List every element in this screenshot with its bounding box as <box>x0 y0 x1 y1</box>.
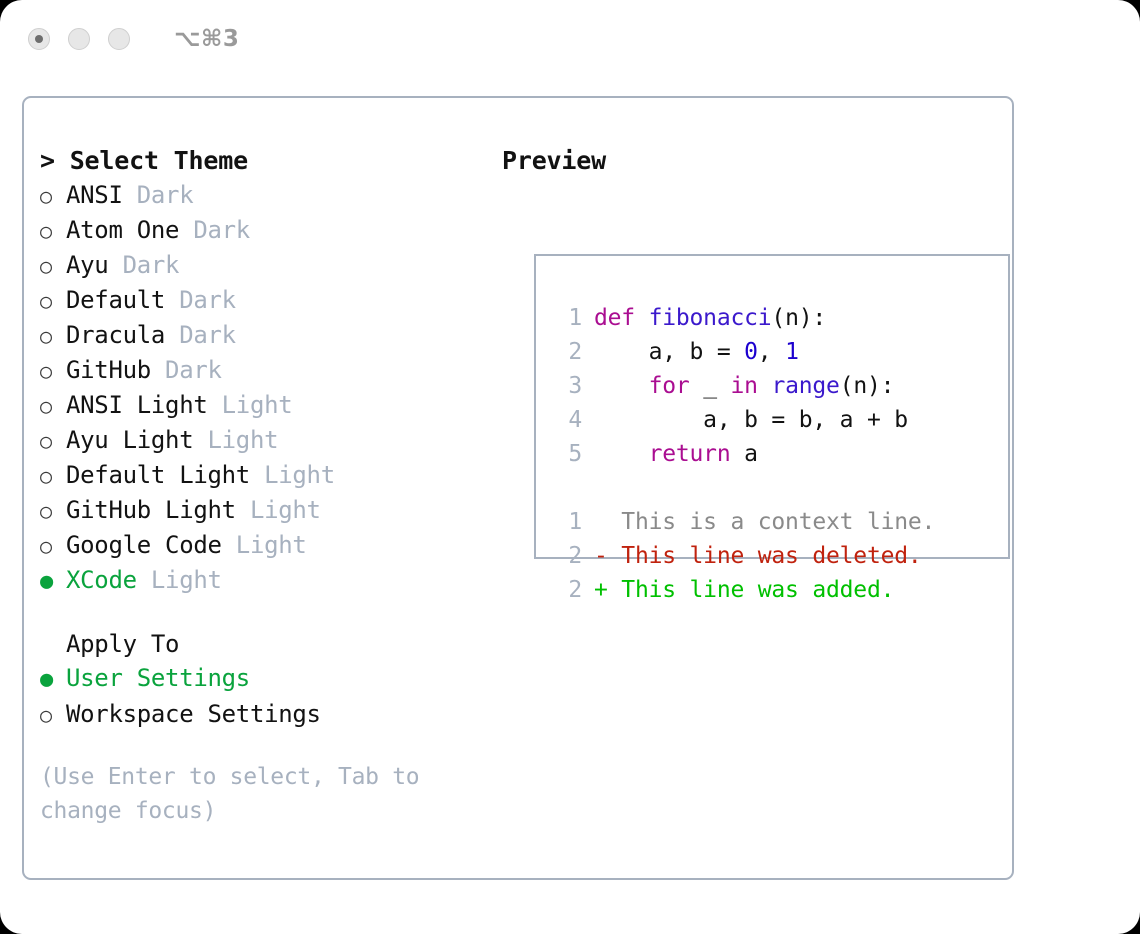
radio-unselected-icon: ○ <box>40 214 66 248</box>
radio-unselected-icon: ○ <box>40 179 66 213</box>
keyboard-shortcut-label: ⌥⌘3 <box>174 26 239 52</box>
spacer-2 <box>40 732 480 760</box>
code-preview: 1def fibonacci(n):2 a, b = 0, 13 for _ i… <box>556 301 935 607</box>
theme-option-ansi-light[interactable]: ○ANSI Light Light <box>40 388 480 423</box>
diff-line: 1 This is a context line. <box>556 505 935 539</box>
diff-text-add: + This line was added. <box>594 573 894 607</box>
theme-mode-label: Light <box>236 493 321 527</box>
code-text: return a <box>594 437 758 471</box>
theme-option-dracula[interactable]: ○Dracula Dark <box>40 318 480 353</box>
theme-name: Atom One <box>66 213 179 247</box>
radio-unselected-icon: ○ <box>40 354 66 388</box>
theme-name: Ayu <box>66 248 108 282</box>
theme-name: Default Light <box>66 458 250 492</box>
line-number: 5 <box>556 437 582 471</box>
preview-heading: Preview <box>502 144 1002 178</box>
radio-unselected-icon: ○ <box>40 698 66 732</box>
code-text: a, b = b, a + b <box>594 403 908 437</box>
theme-option-github[interactable]: ○GitHub Dark <box>40 353 480 388</box>
code-token-kw: for <box>649 373 690 399</box>
code-text: a, b = 0, 1 <box>594 335 799 369</box>
title-bar: ⌥⌘3 <box>0 0 1140 78</box>
radio-unselected-icon: ○ <box>40 284 66 318</box>
theme-name: XCode <box>66 563 137 597</box>
preview-box: 1def fibonacci(n):2 a, b = 0, 13 for _ i… <box>534 254 1010 559</box>
line-number: 2 <box>556 539 582 573</box>
code-token-plain: , <box>758 339 785 365</box>
radio-selected-icon: ● <box>40 565 66 599</box>
theme-mode-label: Light <box>193 423 278 457</box>
theme-option-ayu[interactable]: ○Ayu Dark <box>40 248 480 283</box>
code-token-kw: return <box>649 441 731 467</box>
theme-name: GitHub <box>66 353 151 387</box>
code-token-num: 1 <box>785 339 799 365</box>
theme-mode-label: Light <box>222 528 307 562</box>
code-token-plain <box>594 373 649 399</box>
code-line: 1def fibonacci(n): <box>556 301 935 335</box>
apply-to-option-workspace-settings[interactable]: ○Workspace Settings <box>40 697 480 732</box>
radio-unselected-icon: ○ <box>40 459 66 493</box>
line-number: 1 <box>556 301 582 335</box>
apply-to-heading: Apply To <box>40 627 480 661</box>
theme-mode-label: Light <box>208 388 293 422</box>
theme-mode-label: Dark <box>123 178 194 212</box>
select-theme-heading: > Select Theme <box>40 144 480 178</box>
theme-mode-label: Dark <box>179 213 250 247</box>
theme-option-google-code[interactable]: ○Google Code Light <box>40 528 480 563</box>
apply-to-label: User Settings <box>66 661 250 695</box>
line-number: 3 <box>556 369 582 403</box>
spacer <box>40 599 480 627</box>
theme-mode-label: Dark <box>151 353 222 387</box>
code-token-plain: (n): <box>771 305 826 331</box>
theme-mode-label: Dark <box>108 248 179 282</box>
code-token-fn: fibonacci <box>649 305 772 331</box>
diff-line: 2- This line was deleted. <box>556 539 935 573</box>
keyboard-hint-text: (Use Enter to select, Tab to change focu… <box>40 760 440 828</box>
radio-unselected-icon: ○ <box>40 424 66 458</box>
line-number: 2 <box>556 573 582 607</box>
preview-column: Preview 1def fibonacci(n):2 a, b = 0, 13… <box>502 144 1002 178</box>
theme-option-default[interactable]: ○Default Dark <box>40 283 480 318</box>
diff-line: 2+ This line was added. <box>556 573 935 607</box>
code-text: def fibonacci(n): <box>594 301 826 335</box>
radio-unselected-icon: ○ <box>40 494 66 528</box>
window-control-2-icon[interactable] <box>68 28 90 50</box>
code-token-plain <box>758 373 772 399</box>
theme-option-github-light[interactable]: ○GitHub Light Light <box>40 493 480 528</box>
code-line: 2 a, b = 0, 1 <box>556 335 935 369</box>
code-token-plain: a, b = b, a + b <box>594 407 908 433</box>
window-control-3-icon[interactable] <box>108 28 130 50</box>
code-line: 5 return a <box>556 437 935 471</box>
theme-mode-label: Dark <box>165 318 236 352</box>
code-token-plain: _ <box>690 373 731 399</box>
theme-name: Ayu Light <box>66 423 193 457</box>
code-token-plain <box>594 441 649 467</box>
theme-option-xcode[interactable]: ●XCode Light <box>40 563 480 599</box>
code-line: 4 a, b = b, a + b <box>556 403 935 437</box>
radio-unselected-icon: ○ <box>40 249 66 283</box>
theme-name: Google Code <box>66 528 222 562</box>
code-text: for _ in range(n): <box>594 369 894 403</box>
theme-name: GitHub Light <box>66 493 236 527</box>
theme-option-ansi[interactable]: ○ANSI Dark <box>40 178 480 213</box>
code-token-num: 0 <box>744 339 758 365</box>
code-line: 3 for _ in range(n): <box>556 369 935 403</box>
theme-name: ANSI <box>66 178 123 212</box>
theme-picker-column: > Select Theme ○ANSI Dark○Atom One Dark○… <box>40 144 480 828</box>
code-token-fn: range <box>771 373 839 399</box>
main-panel: > Select Theme ○ANSI Dark○Atom One Dark○… <box>22 96 1014 880</box>
theme-mode-label: Light <box>137 563 222 597</box>
line-number: 2 <box>556 335 582 369</box>
code-token-kw: in <box>731 373 758 399</box>
radio-unselected-icon: ○ <box>40 529 66 563</box>
code-token-plain: (n): <box>840 373 895 399</box>
code-token-plain: a, b = <box>594 339 744 365</box>
code-token-kw: def <box>594 305 649 331</box>
radio-unselected-icon: ○ <box>40 389 66 423</box>
line-number: 4 <box>556 403 582 437</box>
theme-mode-label: Light <box>250 458 335 492</box>
theme-name: ANSI Light <box>66 388 208 422</box>
record-dot-icon <box>35 35 43 43</box>
apply-to-label: Workspace Settings <box>66 697 321 731</box>
theme-option-default-light[interactable]: ○Default Light Light <box>40 458 480 493</box>
theme-option-atom-one[interactable]: ○Atom One Dark <box>40 213 480 248</box>
apply-to-list: ●User Settings○Workspace Settings <box>40 661 480 732</box>
radio-selected-icon: ● <box>40 663 66 697</box>
radio-unselected-icon: ○ <box>40 319 66 353</box>
app-window: ⌥⌘3 > Select Theme ○ANSI Dark○Atom One D… <box>0 0 1140 934</box>
theme-mode-label: Dark <box>165 283 236 317</box>
theme-name: Dracula <box>66 318 165 352</box>
record-indicator-icon[interactable] <box>28 28 50 50</box>
diff-text-ctx: This is a context line. <box>594 505 935 539</box>
code-token-plain: a <box>730 441 757 467</box>
apply-to-option-user-settings[interactable]: ●User Settings <box>40 661 480 697</box>
line-number: 1 <box>556 505 582 539</box>
theme-list: ○ANSI Dark○Atom One Dark○Ayu Dark○Defaul… <box>40 178 480 599</box>
code-blank-line <box>556 471 935 505</box>
diff-text-del: - This line was deleted. <box>594 539 922 573</box>
theme-name: Default <box>66 283 165 317</box>
theme-option-ayu-light[interactable]: ○Ayu Light Light <box>40 423 480 458</box>
